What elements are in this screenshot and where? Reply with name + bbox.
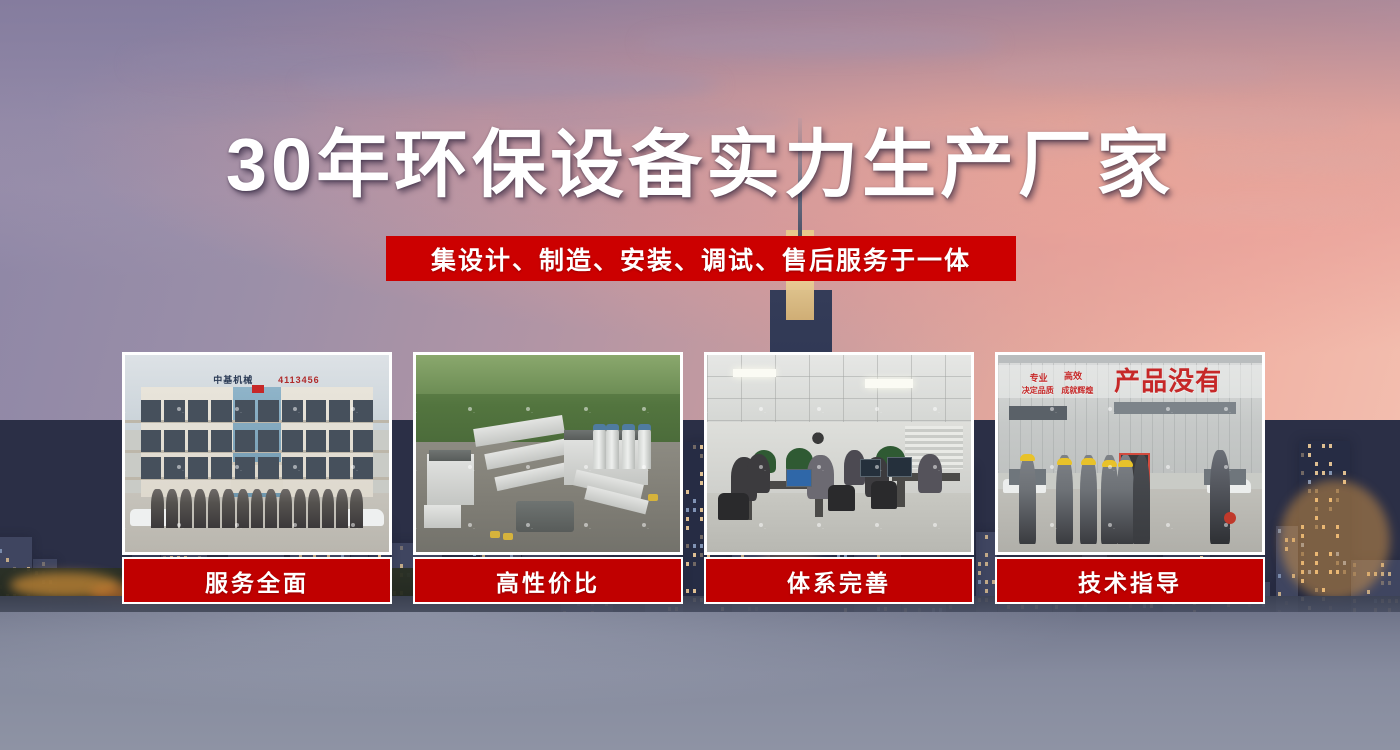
subtitle-ribbon: 集设计、制造、安装、调试、售后服务于一体 [386, 236, 1016, 281]
feature-card-list: 中基机械 4113456 服务全面 [122, 352, 1276, 604]
factory-slogan-small-3: 决定品质 [1022, 385, 1054, 396]
feature-card[interactable]: 中基机械 4113456 服务全面 [122, 352, 392, 604]
feature-card[interactable]: 体系完善 [704, 352, 974, 604]
subtitle-text: 集设计、制造、安装、调试、售后服务于一体 [431, 241, 971, 277]
factory-slogan-small-4: 成就辉煌 [1061, 385, 1093, 396]
feature-card[interactable]: 产品没有 专业 高效 决定品质 成就辉煌 [995, 352, 1265, 604]
page-title: 30年环保设备实力生产厂家 [0, 128, 1400, 202]
card-caption: 服务全面 [122, 557, 392, 604]
card-caption: 技术指导 [995, 557, 1265, 604]
cloud [300, 70, 720, 100]
card-photo-headquarters: 中基机械 4113456 [122, 352, 392, 555]
cloud [640, 30, 1000, 56]
card-caption-text: 高性价比 [496, 564, 600, 598]
water-reflection [0, 612, 1400, 750]
factory-slogan-small-1: 专业 [1030, 371, 1048, 384]
hero-banner: 30年环保设备实力生产厂家 集设计、制造、安装、调试、售后服务于一体 中基机械 [0, 0, 1400, 750]
card-caption-text: 体系完善 [787, 564, 891, 598]
feature-card[interactable]: 高性价比 [413, 352, 683, 604]
cloud [980, 58, 1280, 88]
card-caption: 高性价比 [413, 557, 683, 604]
cloud [60, 96, 320, 118]
building-sign-text: 中基机械 [194, 373, 273, 387]
factory-slogan-small-2: 高效 [1064, 369, 1082, 382]
card-photo-plant-aerial [413, 352, 683, 555]
factory-slogan-large: 产品没有 [1114, 361, 1222, 398]
card-photo-office [704, 352, 974, 555]
city-light-glow [1280, 480, 1390, 600]
card-caption-text: 技术指导 [1078, 564, 1182, 598]
card-photo-workers: 产品没有 专业 高效 决定品质 成就辉煌 [995, 352, 1265, 555]
card-caption: 体系完善 [704, 557, 974, 604]
building-phone-text: 4113456 [278, 373, 362, 387]
card-caption-text: 服务全面 [205, 564, 309, 598]
